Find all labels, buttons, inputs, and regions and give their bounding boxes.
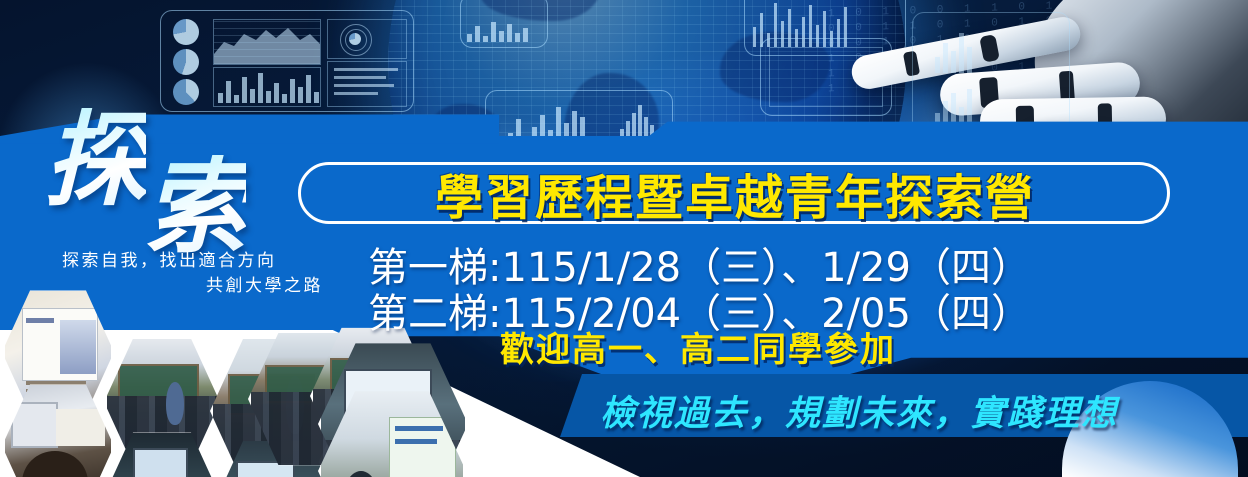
pie-chart-icon (173, 49, 199, 75)
pie-chart-icon (173, 79, 199, 105)
subtitle-line-2: 共創大學之路 (206, 271, 323, 296)
text-lines-panel (327, 61, 407, 107)
radar-panel (327, 19, 407, 59)
hud-dashboard-panel (160, 10, 414, 112)
hud-panel-hand-overlay (912, 12, 1070, 136)
brand-word-tan: 探 (44, 108, 146, 212)
area-chart-graphic (213, 19, 321, 65)
page-title: 學習歷程暨卓越青年探索營 (312, 166, 1158, 220)
subtitle-line-1: 探索自我，找出適合方向 (62, 246, 277, 271)
bar-chart-graphic (213, 67, 321, 107)
welcome-line: 歡迎高一、高二同學參加 (500, 322, 896, 371)
pie-chart-icon (173, 19, 199, 45)
brand-word-suo: 索 (144, 155, 246, 259)
pie-chart-icon (349, 33, 361, 45)
hud-mini-panel-left (460, 0, 548, 48)
tagline-text: 檢視過去，規劃未來，實踐理想 (600, 385, 1118, 436)
event-banner: 1 0 1 0 0 1 1 0 1 0 0 1 0 1 1 0 0 1 1 0 … (0, 0, 1248, 477)
